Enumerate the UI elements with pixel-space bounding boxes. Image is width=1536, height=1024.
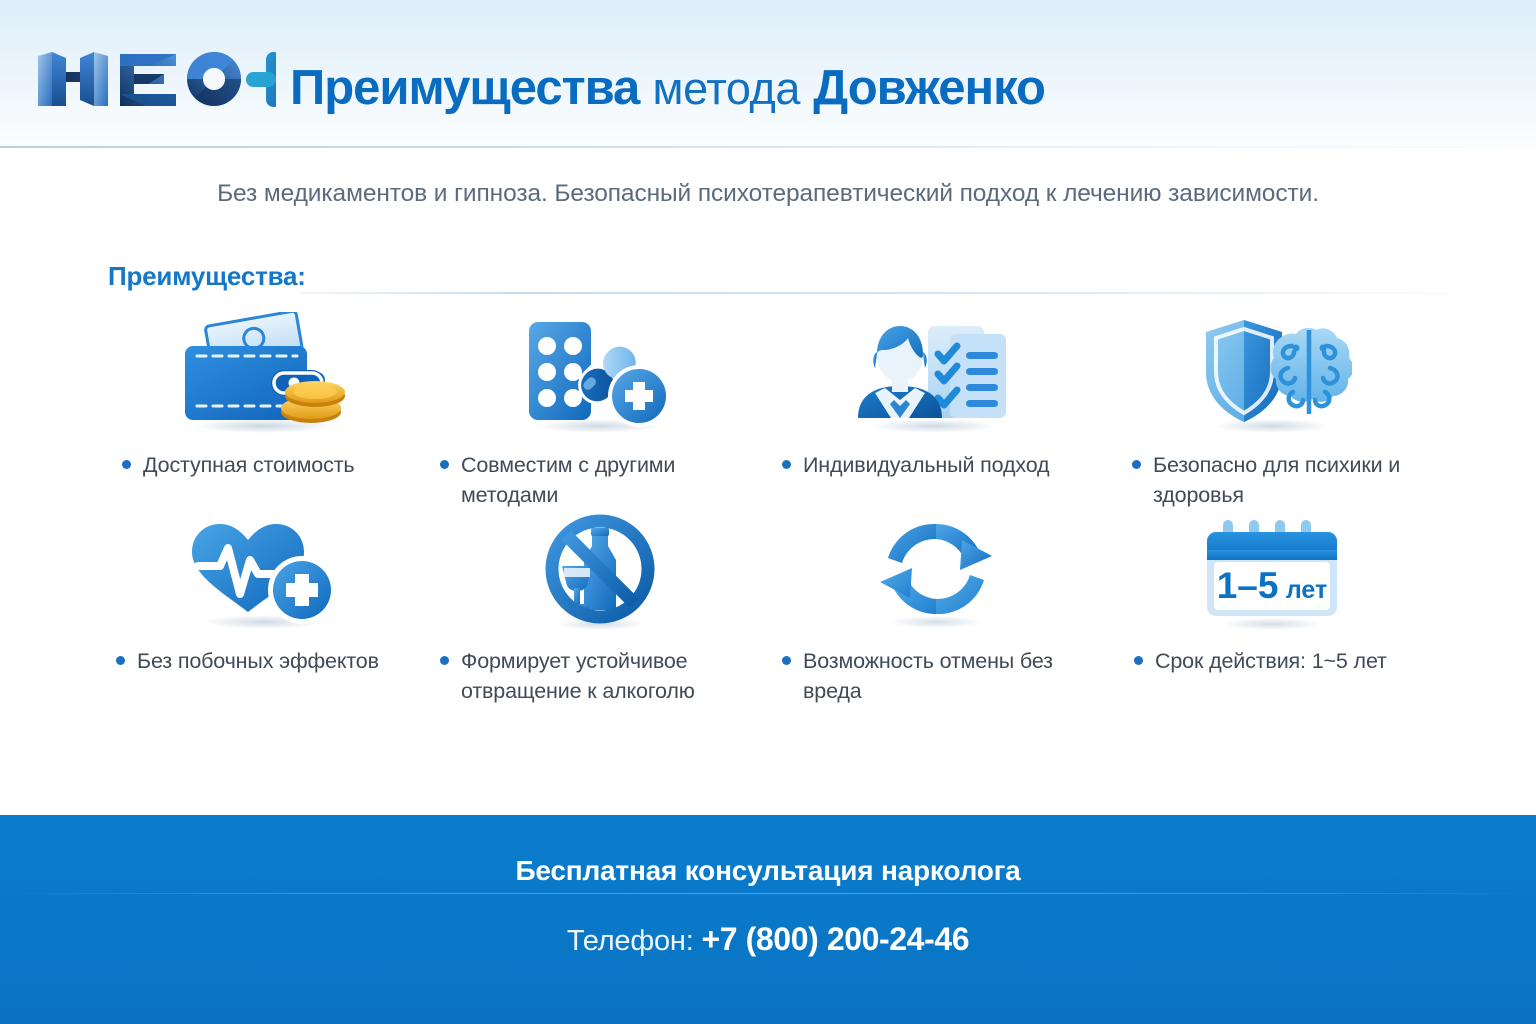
bullet-dot — [1134, 656, 1143, 665]
neo-plus-logo — [36, 48, 276, 110]
benefit-item: 1–5 лет Срок действия: 1~5 лет — [1104, 512, 1440, 716]
benefit-label: Безопасно для психики и здоровья — [1153, 450, 1434, 510]
bullet-dot — [122, 460, 131, 469]
benefits-grid: Доступная стоимость — [96, 308, 1440, 716]
benefit-label: Формирует устойчивое отвращение к алкого… — [461, 646, 762, 706]
phone-number[interactable]: +7 (800) 200-24-46 — [701, 921, 969, 957]
benefit-item: Без побочных эффектов — [96, 512, 432, 716]
benefit-label-row: Безопасно для психики и здоровья — [1104, 436, 1440, 510]
doctor-checklist-icon — [768, 308, 1104, 436]
benefit-label-row: Индивидуальный подход — [768, 436, 1104, 480]
benefit-label: Индивидуальный подход — [803, 450, 1049, 480]
bullet-dot — [782, 656, 791, 665]
benefit-label: Срок действия: 1~5 лет — [1155, 646, 1387, 676]
benefit-label: Без побочных эффектов — [137, 646, 379, 676]
benefit-item: Доступная стоимость — [96, 308, 432, 512]
benefit-item: Индивидуальный подход — [768, 308, 1104, 512]
calendar-icon: 1–5 лет — [1104, 512, 1440, 632]
benefit-label-row: Совместим с другими методами — [432, 436, 768, 510]
benefit-item: Совместим с другими методами — [432, 308, 768, 512]
bullet-dot — [782, 460, 791, 469]
header: Преимущества метода Довженко — [0, 0, 1536, 148]
benefit-item: Возможность отмены без вреда — [768, 512, 1104, 716]
benefit-label-row: Формирует устойчивое отвращение к алкого… — [432, 632, 768, 706]
pills-capsule-plus-icon — [432, 308, 768, 436]
benefit-label: Возможность отмены без вреда — [803, 646, 1098, 706]
page-title: Преимущества метода Довженко — [290, 57, 1045, 120]
bullet-dot — [440, 460, 449, 469]
footer-headline: Бесплатная консультация нарколога — [0, 855, 1536, 887]
phone-label: Телефон: — [567, 925, 694, 957]
benefit-item: Безопасно для психики и здоровья — [1104, 308, 1440, 512]
footer-cta: Бесплатная консультация нарколога Телефо… — [0, 815, 1536, 1024]
bullet-dot — [116, 656, 125, 665]
benefit-label-row: Доступная стоимость — [96, 436, 432, 480]
no-alcohol-icon — [432, 512, 768, 632]
page-title-part-1: Преимущества — [290, 61, 639, 115]
page-title-part-3: Довженко — [813, 61, 1045, 115]
benefit-label: Доступная стоимость — [143, 450, 354, 480]
footer-phone-row: Телефон: +7 (800) 200-24-46 — [0, 921, 1536, 958]
footer-divider — [0, 893, 1536, 894]
wallet-coins-icon — [96, 308, 432, 436]
shield-brain-icon — [1104, 308, 1440, 436]
heart-pulse-cross-icon — [96, 512, 432, 632]
infographic-page: Преимущества метода Довженко Без медикам… — [0, 0, 1536, 1024]
page-title-part-2: метода — [653, 63, 801, 114]
refresh-cycle-arrows-icon — [768, 512, 1104, 632]
subtitle: Без медикаментов и гипноза. Безопасный п… — [0, 180, 1536, 208]
benefit-label: Совместим с другими методами — [461, 450, 762, 510]
bullet-dot — [440, 656, 449, 665]
benefit-label-row: Возможность отмены без вреда — [768, 632, 1104, 706]
section-heading: Преимущества: — [108, 261, 306, 292]
benefit-label-row: Срок действия: 1~5 лет — [1104, 632, 1440, 676]
bullet-dot — [1132, 460, 1141, 469]
benefit-item: Формирует устойчивое отвращение к алкого… — [432, 512, 768, 716]
section-divider — [300, 292, 1490, 294]
header-divider — [0, 146, 1536, 148]
benefit-label-row: Без побочных эффектов — [96, 632, 432, 676]
